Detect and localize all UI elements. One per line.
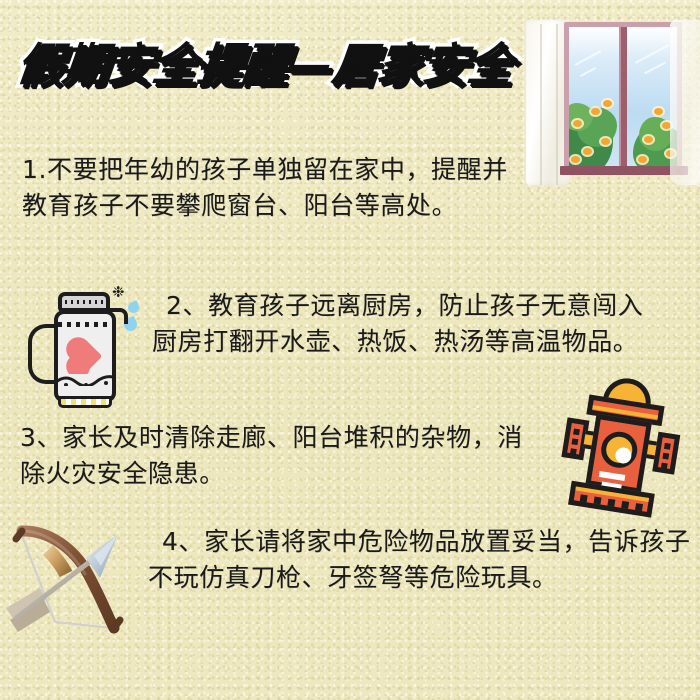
blossom-icon bbox=[583, 148, 592, 155]
fire-hydrant-illustration bbox=[536, 363, 700, 527]
thermos-lid bbox=[58, 292, 110, 312]
blossom-icon bbox=[571, 156, 580, 163]
blossom-icon bbox=[644, 136, 653, 143]
curtain-right-icon bbox=[670, 20, 700, 185]
thermos-dot-band bbox=[58, 322, 114, 327]
safety-tip-2: 2、教育孩子远离厨房，防止孩子无意闯入厨房打翻开水壶、热饭、热汤等高温物品。 bbox=[152, 288, 652, 360]
poster-canvas: 假期安全提醒—居家安全 bbox=[0, 0, 700, 700]
title-container: 假期安全提醒—居家安全 bbox=[14, 34, 534, 96]
steam-icon: ❉ bbox=[112, 284, 130, 300]
blossom-icon bbox=[603, 100, 612, 107]
blossom-icon bbox=[654, 108, 663, 115]
window-sill bbox=[560, 166, 688, 175]
thermos-wave-band bbox=[56, 374, 116, 386]
thermos-illustration: ❉ bbox=[24, 282, 148, 408]
water-drop-icon bbox=[126, 300, 141, 315]
bow-and-arrow-illustration bbox=[0, 516, 138, 638]
window-frame-icon bbox=[564, 22, 682, 174]
heart-icon bbox=[66, 334, 106, 374]
safety-tip-3: 3、家长及时清除走廊、阳台堆积的杂物，消除火灾安全隐患。 bbox=[20, 420, 544, 492]
safety-tip-1: 1.不要把年幼的孩子单独留在家中，提醒并教育孩子不要攀爬窗台、阳台等高处。 bbox=[22, 152, 508, 224]
window-illustration bbox=[518, 0, 700, 185]
safety-tip-4: 4、家长请将家中危险物品放置妥当，告诉孩子不玩仿真刀枪、牙签弩等危险玩具。 bbox=[148, 524, 696, 596]
page-title: 假期安全提醒—居家安全 bbox=[14, 34, 541, 96]
blossom-icon bbox=[638, 156, 647, 163]
blossom-icon bbox=[591, 108, 600, 115]
hydrant-arm-right bbox=[652, 432, 680, 475]
blossom-icon bbox=[601, 138, 610, 145]
thermos-base-band bbox=[58, 396, 112, 408]
blossom-icon bbox=[573, 120, 582, 127]
bow-grip bbox=[48, 550, 66, 574]
arrow-shaft bbox=[16, 560, 92, 618]
window-pane-left bbox=[569, 27, 619, 169]
